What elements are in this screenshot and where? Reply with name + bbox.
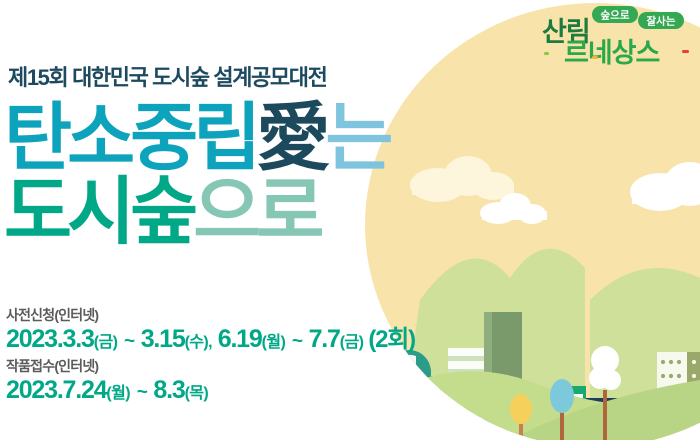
schedule-label-pre-application: 사전신청(인터넷) [6, 306, 415, 325]
headline-line-2: 도시숲으로 [4, 178, 388, 246]
date-round-count: (2회) [363, 326, 415, 353]
headline-seg-ae: 愛 [256, 96, 325, 179]
logo-accent-lightgreen [544, 52, 549, 55]
date-weekday: (월) [262, 334, 286, 351]
headline-line-1: 탄소중립愛는 [4, 104, 388, 172]
sanrim-renaissance-logo[interactable]: 숲으로 잘사는 산림 르네상스 [534, 4, 692, 66]
date-sep: ~ [123, 331, 135, 352]
headline-seg-tansojungrip: 탄소중립 [4, 96, 256, 179]
date-num: 3.15 [141, 325, 185, 353]
date-num: 7.7 [309, 325, 340, 353]
headline-seg-neun: 는 [325, 96, 388, 179]
date-num: 2023.7.24 [6, 376, 106, 404]
schedule-value-pre-application: 2023.3.3(금) ~ 3.15(수), 6.19(월) ~ 7.7(금)(… [6, 325, 415, 355]
date-weekday: (수), [185, 334, 212, 351]
date-weekday: (금) [94, 334, 118, 351]
schedule-block: 사전신청(인터넷) 2023.3.3(금) ~ 3.15(수), 6.19(월)… [6, 306, 415, 409]
schedule-label-submission: 작품접수(인터넷) [6, 357, 415, 376]
logo-tagline-part1: 숲으로 [601, 10, 630, 22]
schedule-entry-submission: 작품접수(인터넷) 2023.7.24(월) ~ 8.3(목) [6, 357, 415, 405]
headline-seg-euro: 으로 [193, 170, 319, 253]
date-weekday: (월) [106, 385, 130, 402]
logo-accent-red [682, 50, 689, 53]
date-num: 2023.3.3 [6, 325, 94, 353]
poster-canvas: 숲으로 잘사는 산림 르네상스 제15회 대한민국 도시숲 설계공모대전 탄소중… [0, 0, 700, 440]
date-num: 8.3 [153, 376, 184, 404]
schedule-entry-pre-application: 사전신청(인터넷) 2023.3.3(금) ~ 3.15(수), 6.19(월)… [6, 306, 415, 354]
date-num: 6.19 [218, 325, 262, 353]
schedule-value-submission: 2023.7.24(월) ~ 8.3(목) [6, 376, 415, 406]
page-title: 탄소중립愛는 도시숲으로 [4, 104, 388, 246]
page-subtitle: 제15회 대한민국 도시숲 설계공모대전 [8, 60, 326, 92]
date-weekday: (목) [185, 385, 209, 402]
logo-accent-yellow [592, 56, 598, 59]
headline-seg-dosisup: 도시숲 [4, 170, 193, 253]
date-weekday: (금) [340, 334, 364, 351]
logo-tagline-part2: 잘사는 [647, 15, 676, 28]
logo-line2: 르네상스 [564, 38, 660, 66]
date-sep: ~ [291, 331, 303, 352]
date-sep: ~ [136, 382, 148, 403]
